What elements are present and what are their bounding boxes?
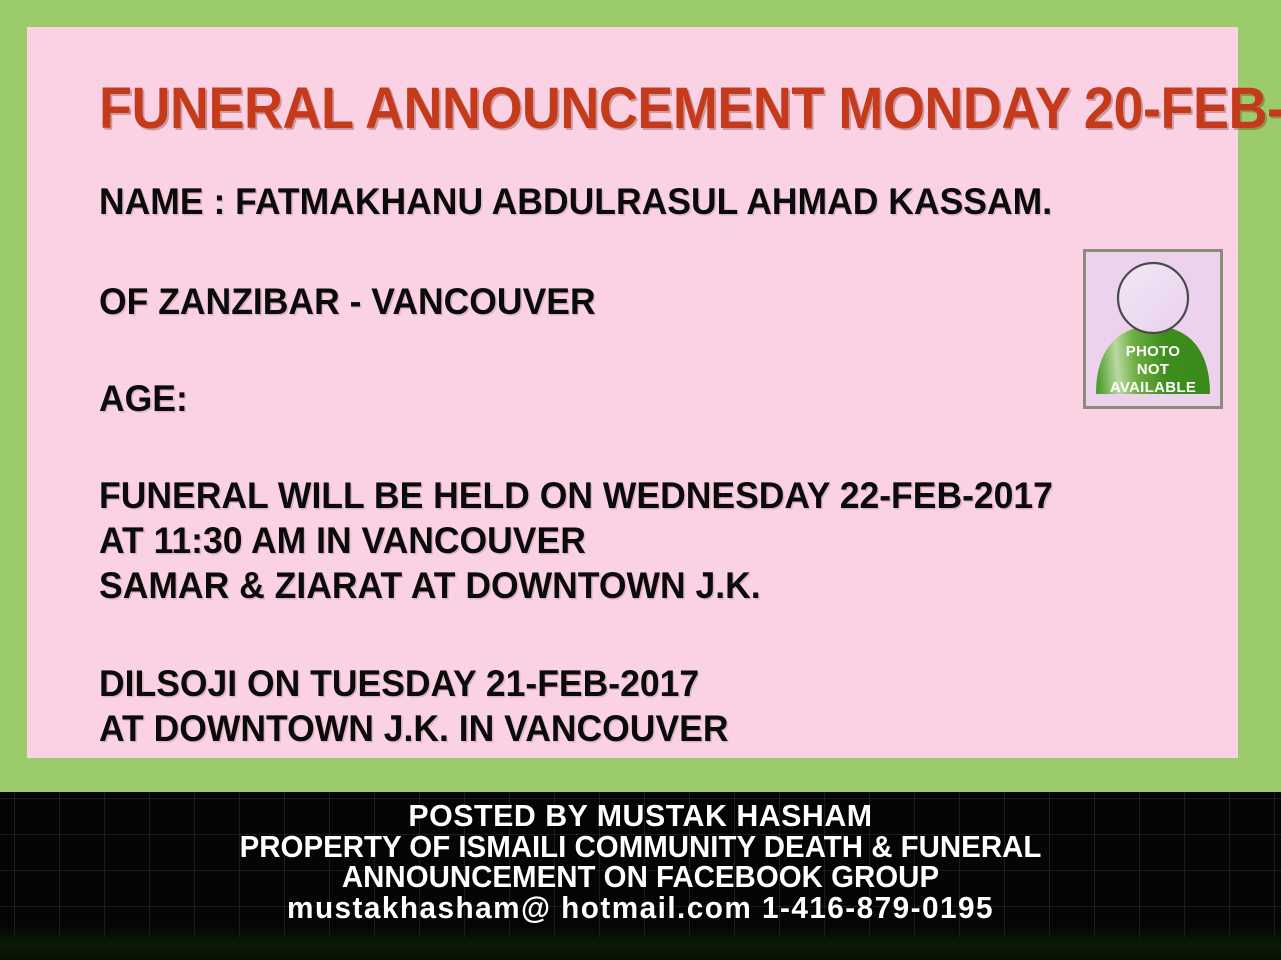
photo-caption-line-3: AVAILABLE	[1110, 379, 1196, 396]
funeral-details-line-3: SAMAR & ZIARAT AT DOWNTOWN J.K.	[99, 564, 761, 608]
funeral-details-line-1: FUNERAL WILL BE HELD ON WEDNESDAY 22-FEB…	[99, 474, 1053, 518]
origin-line: OF ZANZIBAR - VANCOUVER	[99, 280, 596, 324]
announcement-panel: FUNERAL ANNOUNCEMENT MONDAY 20-FEB-2017 …	[27, 27, 1238, 758]
footer-green-glow	[0, 926, 1281, 960]
photo-caption-line-1: PHOTO	[1126, 343, 1181, 360]
dilsoji-line-1: DILSOJI ON TUESDAY 21-FEB-2017	[99, 662, 699, 706]
person-silhouette-icon: PHOTO NOT AVAILABLE	[1086, 252, 1220, 406]
photo-caption-line-2: NOT	[1137, 361, 1170, 378]
funeral-details-line-2: AT 11:30 AM IN VANCOUVER	[99, 519, 586, 563]
footer-contact-line: mustakhasham@ hotmail.com 1-416-879-0195	[26, 890, 1256, 926]
page-title: FUNERAL ANNOUNCEMENT MONDAY 20-FEB-2017	[99, 79, 1159, 139]
green-border-frame: FUNERAL ANNOUNCEMENT MONDAY 20-FEB-2017 …	[0, 0, 1281, 792]
age-line: AGE:	[99, 377, 188, 421]
dilsoji-line-2: AT DOWNTOWN J.K. IN VANCOUVER	[99, 707, 729, 751]
funeral-announcement-poster: FUNERAL ANNOUNCEMENT MONDAY 20-FEB-2017 …	[0, 0, 1281, 960]
photo-not-available-box: PHOTO NOT AVAILABLE	[1083, 249, 1223, 409]
deceased-name-line: NAME : FATMAKHANU ABDULRASUL AHMAD KASSA…	[99, 180, 1052, 224]
